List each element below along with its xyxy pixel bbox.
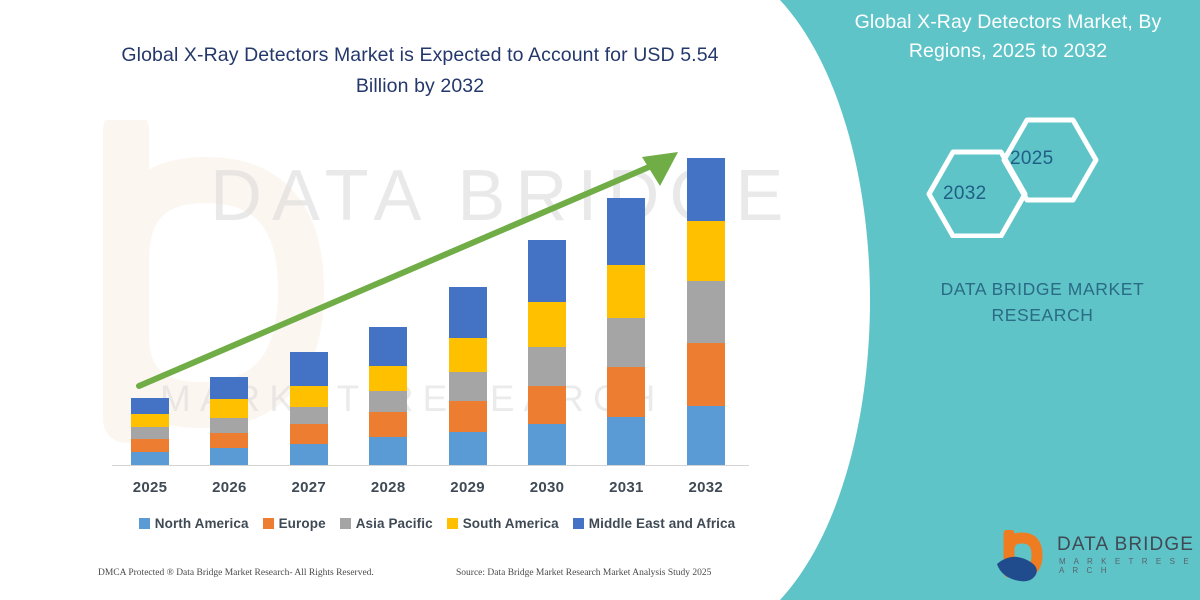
hexagon-year-2025: 2025 xyxy=(1010,148,1053,170)
data-bridge-logo: DATA BRIDGE M A R K E T R E S E A R C H xyxy=(995,530,1195,586)
legend-item-3[interactable]: South America xyxy=(447,516,559,531)
legend-label: North America xyxy=(155,516,249,531)
legend-label: Middle East and Africa xyxy=(589,516,735,531)
legend-item-1[interactable]: Europe xyxy=(263,516,326,531)
legend-swatch-icon xyxy=(139,518,150,529)
legend-item-0[interactable]: North America xyxy=(139,516,249,531)
infographic-canvas: DATA BRIDGE MARKET RESEARCH Global X-Ray… xyxy=(0,0,1200,600)
legend-swatch-icon xyxy=(263,518,274,529)
legend-label: South America xyxy=(463,516,559,531)
legend-item-2[interactable]: Asia Pacific xyxy=(340,516,433,531)
chart-legend: North AmericaEuropeAsia PacificSouth Ame… xyxy=(112,512,762,534)
hexagon-year-2032: 2032 xyxy=(943,183,986,205)
legend-label: Europe xyxy=(279,516,326,531)
legend-label: Asia Pacific xyxy=(356,516,433,531)
footer-source: Source: Data Bridge Market Research Mark… xyxy=(456,568,711,578)
legend-swatch-icon xyxy=(447,518,458,529)
logo-tagline: M A R K E T R E S E A R C H xyxy=(1059,557,1195,575)
panel-title: Global X-Ray Detectors Market, By Region… xyxy=(828,8,1188,66)
data-bridge-mark-icon xyxy=(995,530,1057,582)
growth-arrow-icon xyxy=(0,0,830,600)
legend-swatch-icon xyxy=(340,518,351,529)
hexagon-group: 2025 2032 xyxy=(905,108,1125,238)
legend-item-4[interactable]: Middle East and Africa xyxy=(573,516,735,531)
panel-brand-name: DATA BRIDGE MARKET RESEARCH xyxy=(905,276,1180,328)
footer: DMCA Protected ® Data Bridge Market Rese… xyxy=(0,568,800,588)
hexagon-outlines-icon xyxy=(905,108,1125,238)
footer-copyright: DMCA Protected ® Data Bridge Market Rese… xyxy=(98,568,374,578)
stacked-bar-chart: 20252026202720282029203020312032 xyxy=(0,0,830,600)
legend-swatch-icon xyxy=(573,518,584,529)
logo-wordmark: DATA BRIDGE xyxy=(1057,534,1194,556)
